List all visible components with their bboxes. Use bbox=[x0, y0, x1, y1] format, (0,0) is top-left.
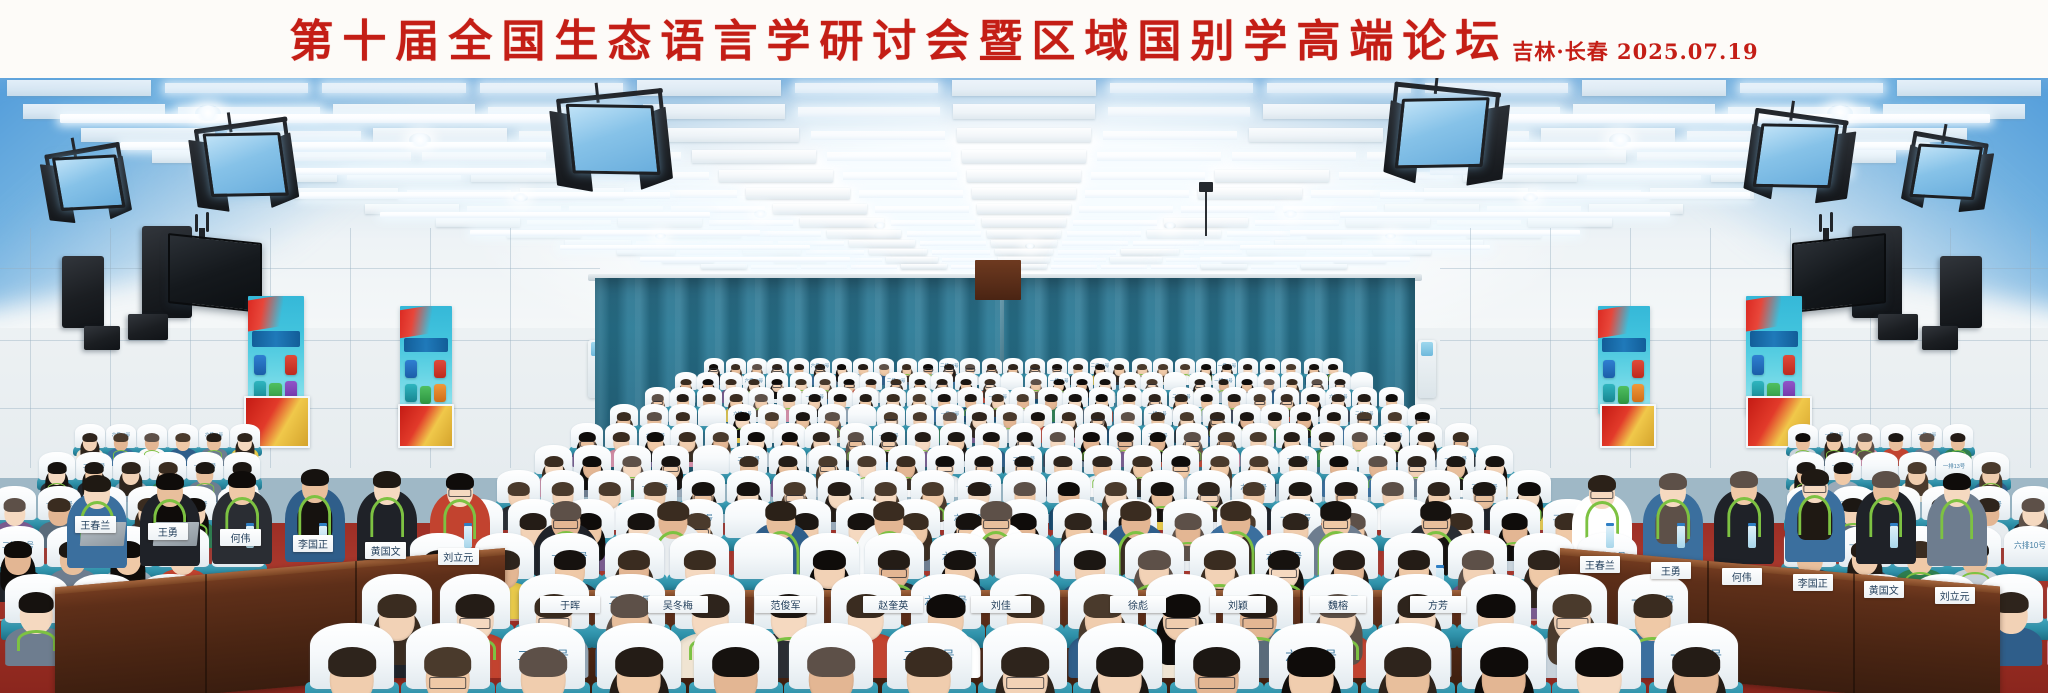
audience-person bbox=[1462, 643, 1547, 693]
person-glasses bbox=[1323, 520, 1349, 529]
ceiling-slat bbox=[701, 264, 747, 269]
ceiling-slat bbox=[746, 188, 850, 199]
person-glasses bbox=[1006, 677, 1044, 690]
downlight bbox=[754, 210, 767, 218]
person-hair bbox=[544, 456, 563, 468]
stage-light bbox=[189, 105, 370, 245]
person-hair bbox=[712, 647, 760, 676]
name-placard: 刘佳 bbox=[971, 596, 1031, 613]
audience-person bbox=[1077, 643, 1162, 693]
ceiling-slat bbox=[1346, 218, 1430, 227]
person-hair bbox=[615, 647, 663, 676]
ceiling-slat bbox=[962, 150, 1086, 163]
person-hair bbox=[3, 498, 26, 512]
name-placard: 黄国文 bbox=[365, 542, 406, 559]
ceiling-slat-row bbox=[0, 230, 2048, 238]
person-hair bbox=[1161, 594, 1200, 618]
desk-panel-seam bbox=[205, 574, 207, 693]
head-table-person bbox=[1785, 457, 1845, 562]
person-hair bbox=[1287, 647, 1335, 676]
camera-tripod bbox=[1205, 190, 1207, 236]
person-hair bbox=[446, 473, 474, 490]
person-hair bbox=[301, 469, 329, 486]
person-hair bbox=[613, 432, 629, 442]
ceiling-light-bar bbox=[875, 206, 969, 213]
person-hair bbox=[1076, 379, 1087, 386]
person-hair bbox=[1158, 364, 1168, 370]
person-hair bbox=[599, 482, 622, 496]
name-placard: 王春兰 bbox=[1580, 556, 1620, 573]
ceiling-light-bar bbox=[859, 190, 963, 198]
stage-light-panel bbox=[1395, 97, 1490, 168]
ceiling-slat bbox=[1201, 264, 1247, 269]
ceiling-slat bbox=[1147, 230, 1221, 238]
person-hair bbox=[328, 647, 376, 676]
person-hair bbox=[837, 364, 847, 370]
audience-person bbox=[1654, 643, 1739, 693]
person-hair bbox=[880, 364, 890, 370]
monitor-antenna bbox=[206, 212, 209, 232]
person-hair bbox=[943, 412, 957, 421]
person-hair bbox=[964, 394, 977, 402]
ceiling-light-bar bbox=[806, 250, 864, 255]
person-hair bbox=[866, 379, 877, 386]
ceiling-light-bar bbox=[1110, 83, 1254, 93]
person-hair bbox=[914, 379, 925, 386]
ceiling-light-bar bbox=[1151, 265, 1197, 269]
water-bottle bbox=[1890, 526, 1898, 548]
bottle-cap bbox=[246, 523, 254, 526]
person-hair bbox=[1446, 456, 1465, 468]
person-hair bbox=[1093, 456, 1112, 468]
water-bottle bbox=[1677, 526, 1685, 548]
seat-back-cover bbox=[995, 533, 1054, 579]
ceiling-slat bbox=[618, 218, 702, 227]
person-hair bbox=[1150, 432, 1166, 442]
person-hair bbox=[778, 456, 797, 468]
person-hair bbox=[1003, 412, 1017, 421]
person-hair bbox=[1083, 432, 1099, 442]
audience-person bbox=[1365, 643, 1450, 693]
person-hair bbox=[1125, 379, 1136, 386]
person-hair bbox=[1872, 471, 1900, 488]
person-hair bbox=[456, 594, 495, 618]
ceiling-slat bbox=[7, 80, 151, 96]
person-hair bbox=[914, 432, 930, 442]
person-glasses bbox=[1803, 485, 1826, 493]
person-hair bbox=[4, 541, 32, 558]
person-hair bbox=[1138, 550, 1170, 570]
person-hair bbox=[1030, 379, 1041, 386]
person-hair bbox=[1528, 550, 1560, 570]
person-hair bbox=[913, 394, 926, 402]
name-placard: 李国正 bbox=[293, 535, 334, 552]
person-hair bbox=[1239, 412, 1253, 421]
person-hair bbox=[1320, 501, 1351, 520]
ceiling-slat bbox=[995, 249, 1053, 255]
person-hair bbox=[1268, 412, 1282, 421]
ceiling-slat bbox=[1897, 80, 2041, 96]
ceiling-light-bar bbox=[322, 83, 466, 93]
ceiling-light-bar bbox=[1097, 152, 1221, 161]
person-hair bbox=[1175, 394, 1188, 402]
ceiling-slat bbox=[773, 204, 867, 214]
person-hair bbox=[1397, 550, 1429, 570]
ceiling-light-bar bbox=[801, 265, 847, 269]
desk-panel-seam bbox=[1853, 574, 1855, 693]
person-hair bbox=[228, 471, 256, 488]
person-hair bbox=[373, 471, 401, 488]
ceiling-slat bbox=[967, 170, 1081, 182]
person-hair bbox=[1220, 501, 1251, 520]
person-hair bbox=[794, 364, 804, 370]
person-hair bbox=[658, 501, 689, 520]
person-hair bbox=[1203, 550, 1235, 570]
person-hair bbox=[1054, 456, 1073, 468]
person-hair bbox=[902, 364, 912, 370]
person-hair bbox=[1222, 364, 1232, 370]
person-hair bbox=[795, 412, 809, 421]
bottle-cap bbox=[1606, 523, 1614, 526]
ceiling-slat bbox=[977, 204, 1071, 214]
person-hair bbox=[731, 364, 741, 370]
person-hair bbox=[1943, 473, 1971, 490]
audience-person bbox=[405, 643, 490, 693]
person-hair bbox=[1307, 394, 1320, 402]
ceiling-slat bbox=[987, 230, 1061, 238]
ceiling-slat bbox=[901, 264, 947, 269]
ceiling-light-bar bbox=[1310, 250, 1368, 255]
person-hair bbox=[1553, 594, 1592, 618]
head-table-person bbox=[1856, 459, 1916, 564]
person-hair bbox=[1462, 550, 1494, 570]
person-hair bbox=[765, 501, 796, 520]
banner-title-band: 第十届全国生态语言学研讨会暨区域国别学高端论坛 吉林·长春 2025.07.19 bbox=[0, 0, 2048, 78]
person-hair bbox=[1672, 647, 1720, 676]
name-placard: 李国正 bbox=[1793, 574, 1833, 591]
name-placard: 于晖 bbox=[540, 596, 600, 613]
person-hair bbox=[735, 412, 749, 421]
stage-light-panel bbox=[1909, 143, 1983, 200]
ceiling-light-strip bbox=[1240, 245, 1490, 250]
person-hair bbox=[1633, 594, 1672, 618]
ceiling-light-bar bbox=[1133, 241, 1199, 246]
ceiling-slat bbox=[953, 104, 1095, 119]
ceiling-slat bbox=[1121, 249, 1179, 255]
person-lanyard bbox=[1940, 499, 1974, 539]
person-hair bbox=[1919, 433, 1934, 442]
page-title: 第十届全国生态语言学研讨会暨区域国别学高端论坛 bbox=[289, 20, 1508, 64]
person-hair bbox=[1286, 364, 1296, 370]
ceiling-slat-row bbox=[0, 240, 2048, 247]
ceiling-light-bar bbox=[1085, 190, 1189, 198]
audience-person bbox=[597, 643, 682, 693]
head-table-person bbox=[1927, 461, 1987, 566]
person-hair bbox=[1228, 394, 1241, 402]
person-hair bbox=[808, 394, 821, 402]
person-glasses bbox=[1423, 520, 1449, 529]
person-hair bbox=[1388, 412, 1402, 421]
person-hair bbox=[1242, 379, 1253, 386]
ceiling-slat bbox=[869, 249, 927, 255]
person-hair bbox=[1054, 379, 1065, 386]
person-hair bbox=[611, 594, 650, 618]
bottle-cap bbox=[1677, 523, 1685, 526]
person-hair bbox=[1058, 482, 1081, 496]
person-hair bbox=[1045, 394, 1058, 402]
person-hair bbox=[1480, 647, 1528, 676]
person-hair bbox=[752, 364, 762, 370]
person-hair bbox=[1133, 456, 1152, 468]
ceiling-slat-row bbox=[0, 249, 2048, 255]
downlight bbox=[409, 133, 431, 147]
seat-unit bbox=[995, 533, 1054, 579]
person-hair bbox=[748, 432, 764, 442]
person-glasses bbox=[1198, 677, 1236, 690]
name-placard: 范俊军 bbox=[755, 596, 815, 613]
ceiling-light-bar bbox=[1437, 220, 1521, 226]
person-hair bbox=[680, 379, 691, 386]
ceiling-light-bar bbox=[1058, 250, 1116, 255]
person-hair bbox=[858, 364, 868, 370]
person-hair bbox=[1329, 456, 1348, 468]
name-placard: 方芳 bbox=[1410, 596, 1466, 613]
person-glasses bbox=[553, 520, 579, 529]
head-table-person bbox=[212, 459, 272, 564]
ceiling-light-bar bbox=[1067, 231, 1141, 237]
downlight bbox=[1609, 133, 1631, 147]
person-hair bbox=[912, 412, 926, 421]
person-hair bbox=[647, 432, 663, 442]
person-hair bbox=[972, 412, 986, 421]
ceiling-slat bbox=[373, 128, 507, 142]
bottle-cap bbox=[1890, 523, 1898, 526]
ceiling-light-bar bbox=[811, 131, 945, 140]
ceiling-slat bbox=[436, 218, 520, 227]
audience-person bbox=[1557, 643, 1642, 693]
person-hair bbox=[1065, 513, 1092, 530]
person-hair bbox=[1180, 364, 1190, 370]
person-hair bbox=[83, 475, 111, 492]
person-hair bbox=[1200, 394, 1213, 402]
person-hair bbox=[206, 433, 221, 442]
person-hair bbox=[992, 394, 1005, 402]
person-hair bbox=[618, 550, 650, 570]
person-hair bbox=[926, 594, 965, 618]
person-hair bbox=[813, 432, 829, 442]
ceiling-slat bbox=[972, 188, 1076, 199]
ceiling-slat-row bbox=[0, 80, 2048, 96]
conference-hall-photo: 六排12号二排22号二排04号一排21号六排12号二排03号一排21号一排07号… bbox=[0, 78, 2048, 693]
ceiling-light-bar bbox=[851, 265, 897, 269]
ceiling-light-bar bbox=[798, 107, 940, 117]
person-hair bbox=[1100, 379, 1111, 386]
person-hair bbox=[1095, 364, 1105, 370]
person-hair bbox=[622, 456, 641, 468]
person-hair bbox=[807, 647, 855, 676]
name-placard: 刘颖 bbox=[1210, 596, 1266, 613]
person-hair bbox=[1473, 482, 1496, 496]
person-hair bbox=[782, 432, 798, 442]
ceiling-light-bar bbox=[1181, 206, 1275, 213]
person-hair bbox=[1801, 469, 1829, 486]
person-hair bbox=[424, 647, 472, 676]
ceiling-light-bar bbox=[709, 220, 793, 226]
person-hair bbox=[1950, 433, 1965, 442]
person-hair bbox=[983, 432, 999, 442]
ceiling-light-bar bbox=[1232, 152, 1356, 161]
name-placard: 黄国文 bbox=[1864, 581, 1904, 598]
ceiling-slat bbox=[982, 218, 1066, 227]
person-hair bbox=[1250, 432, 1266, 442]
person-hair bbox=[1218, 379, 1229, 386]
ceiling-slat bbox=[1110, 257, 1162, 263]
person-hair bbox=[237, 433, 252, 442]
person-hair bbox=[1211, 456, 1230, 468]
ceiling-slat bbox=[1582, 80, 1726, 96]
ceiling-light-bar bbox=[1101, 265, 1147, 269]
person-hair bbox=[1795, 433, 1810, 442]
person-hair bbox=[676, 412, 690, 421]
person-glasses bbox=[448, 489, 471, 497]
person-hair bbox=[796, 379, 807, 386]
person-hair bbox=[1328, 364, 1338, 370]
person-hair bbox=[1137, 364, 1147, 370]
person-hair bbox=[1289, 456, 1308, 468]
audience-person bbox=[1269, 643, 1354, 693]
seat-unit: 六排10号 bbox=[2004, 526, 2048, 567]
ceiling-light-strip bbox=[1200, 257, 1410, 262]
seat-back-cover bbox=[734, 533, 793, 579]
person-hair bbox=[1332, 394, 1345, 402]
person-hair bbox=[1368, 456, 1387, 468]
ceiling-light-bar bbox=[1740, 83, 1884, 93]
head-table-person bbox=[1643, 461, 1703, 566]
ceiling-slat bbox=[1263, 104, 1405, 119]
person-hair bbox=[553, 550, 585, 570]
person-hair bbox=[948, 432, 964, 442]
ceiling-slat bbox=[886, 257, 938, 263]
ceiling-light-bar bbox=[1073, 220, 1157, 226]
person-hair bbox=[896, 456, 915, 468]
person-hair bbox=[82, 433, 97, 442]
person-hair bbox=[1659, 473, 1687, 490]
person-hair bbox=[813, 550, 845, 570]
person-hair bbox=[1333, 550, 1365, 570]
person-hair bbox=[1120, 501, 1151, 520]
person-hair bbox=[1017, 394, 1030, 402]
person-hair bbox=[859, 394, 872, 402]
person-hair bbox=[1193, 647, 1241, 676]
audience-person bbox=[501, 643, 586, 693]
banner-title-inner: 第十届全国生态语言学研讨会暨区域国别学高端论坛 吉林·长春 2025.07.19 bbox=[0, 0, 2048, 78]
person-hair bbox=[748, 379, 759, 386]
person-hair bbox=[1008, 364, 1018, 370]
ceiling-light-strip bbox=[470, 230, 760, 236]
person-hair bbox=[1268, 550, 1300, 570]
person-hair bbox=[113, 433, 128, 442]
ceiling-slat bbox=[800, 218, 884, 227]
person-hair bbox=[1309, 364, 1319, 370]
ceiling-light-strip bbox=[1290, 230, 1580, 236]
monitor-antenna bbox=[195, 214, 198, 232]
ceiling-slat bbox=[849, 240, 915, 247]
ceiling-light-bar bbox=[1255, 220, 1339, 226]
ceiling-slat bbox=[957, 128, 1091, 142]
stage-light-panel bbox=[1753, 123, 1839, 187]
banner-subtitle-date-location: 吉林·长春 2025.07.19 bbox=[1512, 36, 1758, 66]
person-hair bbox=[1384, 432, 1400, 442]
ceiling-light-bar bbox=[1079, 206, 1173, 213]
ceiling-light-strip bbox=[560, 245, 810, 250]
person-hair bbox=[156, 473, 184, 490]
person-hair bbox=[1031, 412, 1045, 421]
ceiling-light-bar bbox=[680, 250, 738, 255]
person-hair bbox=[1420, 501, 1451, 520]
person-hair bbox=[703, 394, 716, 402]
bottle-cap bbox=[1748, 523, 1756, 526]
person-hair bbox=[1062, 412, 1076, 421]
monitor-antenna bbox=[1830, 212, 1833, 232]
person-hair bbox=[2022, 498, 2045, 512]
ceiling-light-bar bbox=[1108, 107, 1250, 117]
person-hair bbox=[679, 432, 695, 442]
person-hair bbox=[1001, 647, 1049, 676]
person-hair bbox=[1115, 364, 1125, 370]
person-hair bbox=[1074, 550, 1106, 570]
ceiling-light-bar bbox=[422, 152, 546, 161]
person-hair bbox=[19, 592, 54, 613]
person-lanyard bbox=[17, 630, 55, 651]
person-hair bbox=[1095, 394, 1108, 402]
person-hair bbox=[1180, 412, 1194, 421]
name-placard: 赵奎英 bbox=[863, 596, 923, 613]
ceiling-light-bar bbox=[932, 250, 990, 255]
person-lanyard bbox=[1798, 495, 1832, 535]
person-hair bbox=[1385, 394, 1398, 402]
person-hair bbox=[1826, 433, 1841, 442]
monitor-antenna bbox=[1819, 214, 1822, 232]
person-hair bbox=[726, 379, 737, 386]
downlight bbox=[195, 105, 221, 121]
person-hair bbox=[858, 456, 877, 468]
stage-light bbox=[1376, 79, 1568, 223]
person-hair bbox=[834, 394, 847, 402]
person-hair bbox=[960, 379, 971, 386]
person-hair bbox=[825, 412, 839, 421]
person-hair bbox=[1857, 433, 1872, 442]
stage-light-panel bbox=[566, 104, 661, 175]
person-hair bbox=[783, 394, 796, 402]
person-hair bbox=[48, 462, 67, 474]
ceiling-light-bar bbox=[920, 241, 986, 246]
person-hair bbox=[730, 394, 743, 402]
person-hair bbox=[1150, 412, 1164, 421]
name-placard: 王勇 bbox=[148, 523, 189, 540]
person-hair bbox=[1518, 482, 1541, 496]
person-hair bbox=[1121, 412, 1135, 421]
person-hair bbox=[684, 550, 716, 570]
water-bottle bbox=[1748, 526, 1756, 548]
person-hair bbox=[550, 501, 581, 520]
person-hair bbox=[820, 379, 831, 386]
name-placard: 魏榕 bbox=[1310, 596, 1366, 613]
person-glasses bbox=[983, 520, 1009, 529]
person-hair bbox=[1073, 364, 1083, 370]
person-hair bbox=[1297, 412, 1311, 421]
person-hair bbox=[1381, 482, 1404, 496]
stage-light-panel bbox=[52, 154, 126, 211]
